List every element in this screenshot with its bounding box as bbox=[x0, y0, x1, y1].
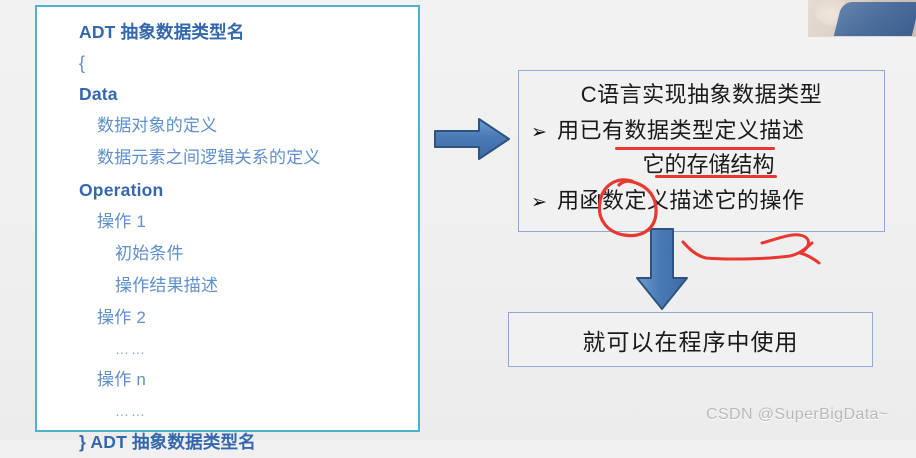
c-box-bullet-2: ➢用函数定义描述它的操作 bbox=[531, 183, 805, 215]
adt-definition-panel: ADT 抽象数据类型名{Data数据对象的定义数据元素之间逻辑关系的定义Oper… bbox=[35, 5, 420, 432]
c-box-title: C语言实现抽象数据类型 bbox=[519, 77, 884, 109]
bullet-arrow-icon: ➢ bbox=[531, 191, 557, 214]
adt-line: …… bbox=[79, 396, 412, 426]
slide-canvas: ADT 抽象数据类型名{Data数据对象的定义数据元素之间逻辑关系的定义Oper… bbox=[0, 0, 916, 440]
adt-line-list: ADT 抽象数据类型名{Data数据对象的定义数据元素之间逻辑关系的定义Oper… bbox=[79, 16, 412, 458]
bullet-arrow-icon: ➢ bbox=[531, 121, 557, 144]
webcam-shirt bbox=[834, 2, 916, 36]
csdn-watermark: CSDN @SuperBigData~ bbox=[706, 406, 889, 424]
red-underline-annotation-2 bbox=[655, 175, 777, 178]
adt-line: 操作结果描述 bbox=[79, 270, 412, 302]
c-implementation-box: C语言实现抽象数据类型 ➢用已有数据类型定义描述 它的存储结构 ➢用函数定义描述… bbox=[518, 70, 885, 232]
adt-line: 操作 n bbox=[79, 364, 412, 396]
adt-line: 数据对象的定义 bbox=[79, 110, 412, 142]
adt-line: Data bbox=[79, 78, 412, 110]
adt-line: …… bbox=[79, 334, 412, 364]
adt-line: 操作 1 bbox=[79, 206, 412, 238]
adt-line: 数据元素之间逻辑关系的定义 bbox=[79, 142, 412, 174]
presenter-webcam-overlay bbox=[808, 0, 916, 37]
adt-line: 操作 2 bbox=[79, 302, 412, 334]
down-arrow-icon bbox=[632, 228, 692, 312]
red-squiggle-tail-annotation bbox=[762, 235, 819, 263]
adt-line: 初始条件 bbox=[79, 238, 412, 270]
adt-line: { bbox=[79, 48, 412, 78]
adt-line: ADT 抽象数据类型名 bbox=[79, 16, 412, 48]
adt-line: } ADT 抽象数据类型名 bbox=[79, 426, 412, 458]
adt-line: Operation bbox=[79, 174, 412, 206]
usage-result-box: 就可以在程序中使用 bbox=[508, 312, 873, 367]
red-squiggle-annotation bbox=[683, 242, 812, 259]
c-box-bullet-2-line1: 用函数定义描述它的操作 bbox=[557, 188, 805, 213]
right-arrow-icon bbox=[433, 116, 511, 162]
usage-result-text: 就可以在程序中使用 bbox=[583, 323, 799, 357]
c-box-bullet-1-line1: 用已有数据类型定义描述 bbox=[557, 118, 805, 143]
c-box-bullet-1: ➢用已有数据类型定义描述 bbox=[531, 113, 805, 145]
red-underline-annotation-1 bbox=[615, 147, 775, 150]
